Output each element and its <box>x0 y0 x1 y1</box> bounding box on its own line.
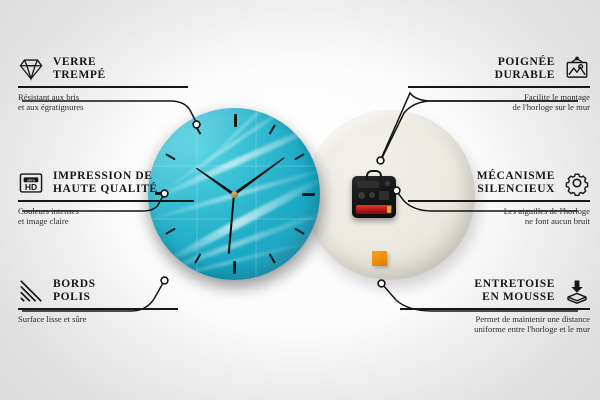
picture-hanger-icon <box>564 56 590 82</box>
mechanism-dial-b <box>369 192 375 198</box>
hand-center-cap <box>231 191 238 198</box>
feature-title: BORDS POLIS <box>53 278 96 304</box>
feature-rule <box>18 200 194 202</box>
feature-title: MÉCANISME SILENCIEUX <box>477 170 555 196</box>
feature-title: POIGNÉE DURABLE <box>495 56 555 82</box>
feature-poignee-durable[interactable]: POIGNÉE DURABLE Facilite le montage de l… <box>408 56 590 113</box>
feature-mecanisme-silencieux[interactable]: MÉCANISME SILENCIEUX Les aiguilles de l'… <box>408 170 590 227</box>
svg-text:HD: HD <box>25 182 37 192</box>
feature-desc: Résistant aux bris et aux égratignures <box>18 92 188 113</box>
feature-desc: Permet de maintenir une distance uniform… <box>400 314 590 335</box>
feature-rule <box>18 308 178 310</box>
battery-terminal <box>387 206 391 213</box>
feature-rule <box>400 308 590 310</box>
feature-title: VERRE TREMPÉ <box>53 56 106 82</box>
feature-title: IMPRESSION DE HAUTE QUALITÉ <box>53 170 158 196</box>
gear-icon <box>564 170 590 196</box>
mechanism-screw <box>385 181 390 186</box>
diamond-icon <box>18 56 44 82</box>
mechanism-block <box>379 191 389 200</box>
feature-desc: Surface lisse et sûre <box>18 314 178 325</box>
feature-desc: Couleurs intenses et image claire <box>18 206 194 227</box>
foam-spacer-icon <box>564 278 590 304</box>
feature-desc: Les aiguilles de l'horloge ne font aucun… <box>408 206 590 227</box>
feature-desc: Facilite le montage de l'horloge sur le … <box>408 92 590 113</box>
feature-rule <box>18 86 188 88</box>
ultra-hd-icon: ultra HD <box>18 170 44 196</box>
diagonal-lines-icon <box>18 278 44 304</box>
feature-impression-haute-qualite[interactable]: ultra HD IMPRESSION DE HAUTE QUALITÉ Cou… <box>18 170 194 227</box>
feature-rule <box>408 200 590 202</box>
clock-mechanism <box>352 176 396 218</box>
feature-rule <box>408 86 590 88</box>
feature-title: ENTRETOISE EN MOUSSE <box>474 278 555 304</box>
feature-bords-polis[interactable]: BORDS POLIS Surface lisse et sûre <box>18 278 178 324</box>
feature-entretoise-en-mousse[interactable]: ENTRETOISE EN MOUSSE Permet de maintenir… <box>400 278 590 335</box>
mechanism-label <box>357 181 379 188</box>
feature-verre-trempe[interactable]: VERRE TREMPÉ Résistant aux bris et aux é… <box>18 56 188 113</box>
battery <box>356 205 392 214</box>
mechanism-hanger-icon <box>366 170 382 180</box>
foam-spacer-pad <box>372 251 387 266</box>
product-stage: VERRE TREMPÉ Résistant aux bris et aux é… <box>0 0 600 400</box>
mechanism-dial-a <box>358 192 365 199</box>
